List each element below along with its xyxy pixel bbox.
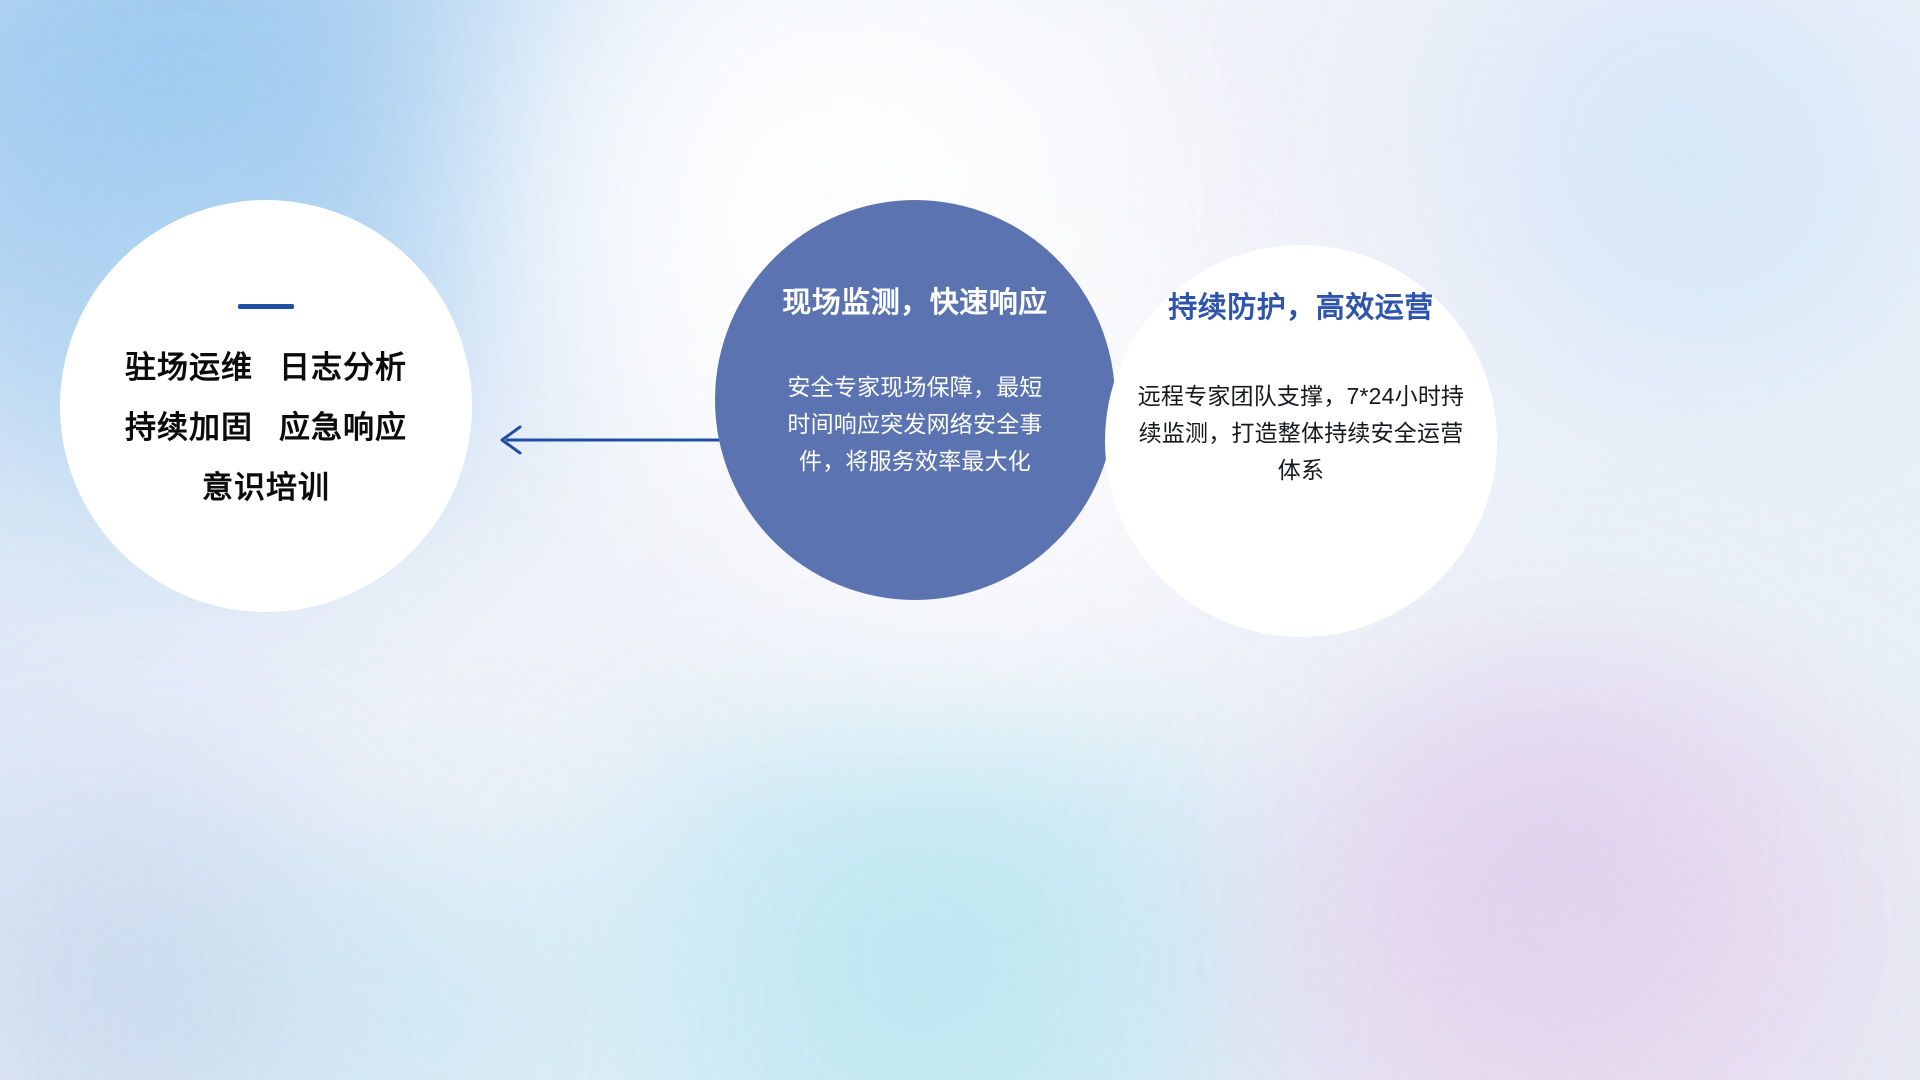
capability-item-1: 驻场运维 — [125, 350, 253, 385]
capability-item-5: 意识培训 — [202, 470, 330, 505]
capability-item-4: 应急响应 — [279, 410, 407, 445]
capability-list: 驻场运维日志分析 持续加固应急响应 意识培训 — [125, 351, 407, 505]
capability-row-3: 意识培训 — [202, 471, 330, 505]
onsite-monitoring-body: 安全专家现场保障，最短时间响应突发网络安全事件，将服务效率最大化 — [781, 369, 1049, 481]
continuous-protection-circle[interactable]: 持续防护，高效运营 远程专家团队支撑，7*24小时持续监测，打造整体持续安全运营… — [1105, 245, 1497, 637]
onsite-monitoring-title: 现场监测，快速响应 — [782, 286, 1048, 321]
onsite-monitoring-circle[interactable]: 现场监测，快速响应 安全专家现场保障，最短时间响应突发网络安全事件，将服务效率最… — [715, 200, 1115, 600]
continuous-protection-body: 远程专家团队支撑，7*24小时持续监测，打造整体持续安全运营体系 — [1136, 378, 1466, 490]
connector-arrow — [488, 414, 724, 466]
continuous-protection-title: 持续防护，高效运营 — [1168, 291, 1434, 326]
capability-row-1: 驻场运维日志分析 — [125, 351, 407, 385]
divider-dash — [238, 304, 294, 309]
capability-row-2: 持续加固应急响应 — [125, 411, 407, 445]
slide-canvas: 驻场运维日志分析 持续加固应急响应 意识培训 现场监测，快速响应 安全专家现场保… — [0, 0, 1920, 1080]
arrow-left-icon — [488, 414, 724, 466]
capabilities-circle[interactable]: 驻场运维日志分析 持续加固应急响应 意识培训 — [60, 200, 472, 612]
capability-item-3: 持续加固 — [125, 410, 253, 445]
capability-item-2: 日志分析 — [279, 350, 407, 385]
